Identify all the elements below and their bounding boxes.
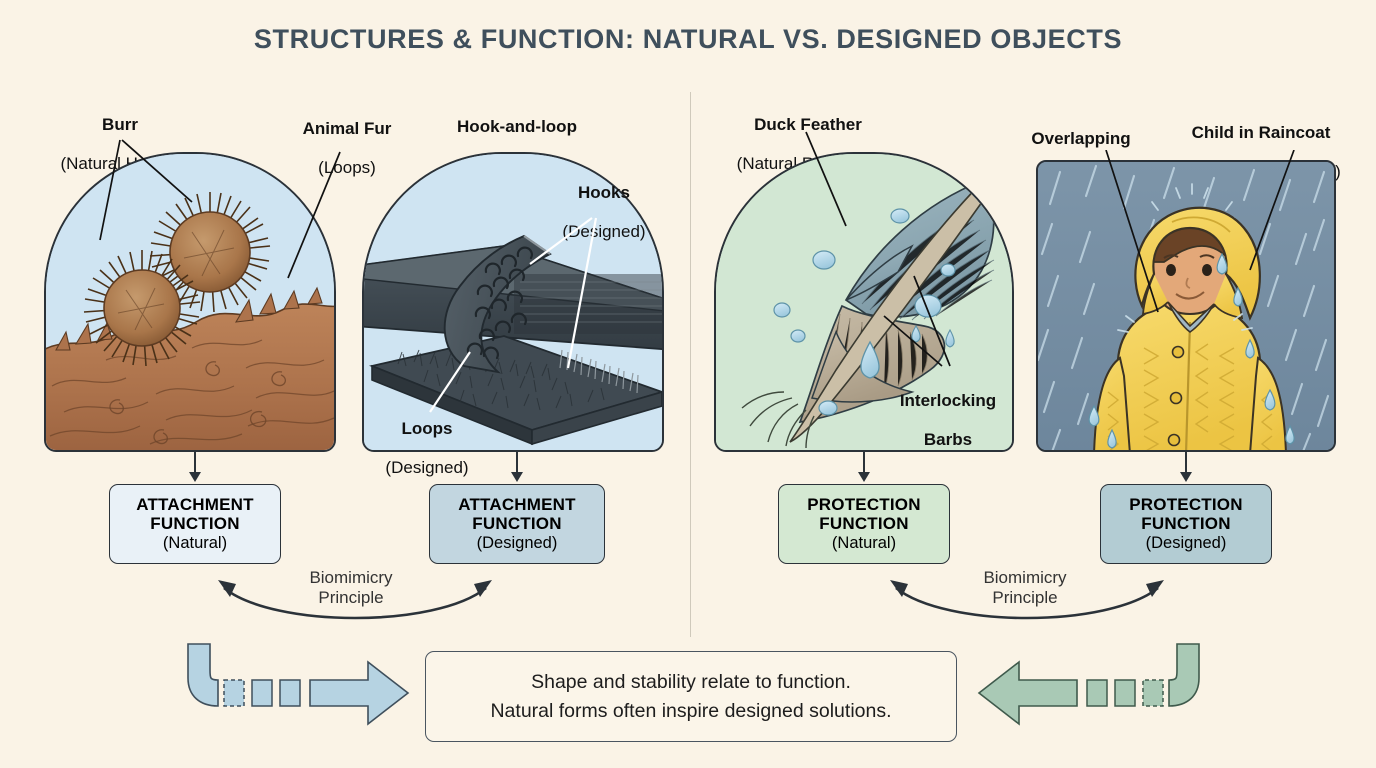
label-interlocking-barbs: Interlocking Barbs: [872, 372, 1024, 469]
section-divider: [690, 92, 691, 637]
function-box-attachment-natural[interactable]: ATTACHMENT FUNCTION (Natural): [109, 484, 281, 564]
arrow-burr-to-function: [180, 452, 210, 484]
flow-arrow-right: [962, 640, 1217, 750]
function-box-attachment-designed[interactable]: ATTACHMENT FUNCTION (Designed): [429, 484, 605, 564]
function-title-line2: FUNCTION: [150, 514, 239, 534]
function-title-line1: ATTACHMENT: [136, 495, 254, 515]
biomimicry-caption-left: Biomimicry Principle: [272, 568, 430, 609]
function-subtitle: (Designed): [1146, 534, 1227, 554]
function-subtitle: (Designed): [477, 534, 558, 554]
function-subtitle: (Natural): [163, 534, 227, 554]
function-title-line1: PROTECTION: [807, 495, 920, 515]
function-title-line1: ATTACHMENT: [458, 495, 576, 515]
arrow-velcro-to-function: [502, 452, 532, 484]
function-title-line2: FUNCTION: [819, 514, 908, 534]
arrow-raincoat-to-function: [1171, 452, 1201, 484]
illustration-child-raincoat: [1036, 160, 1336, 452]
illustration-burr-fur: [44, 152, 336, 452]
function-box-protection-natural[interactable]: PROTECTION FUNCTION (Natural): [778, 484, 950, 564]
summary-line-2: Natural forms often inspire designed sol…: [490, 697, 891, 725]
label-loops-designed: Loops (Designed): [372, 400, 482, 497]
summary-line-1: Shape and stability relate to function.: [531, 668, 851, 696]
label-hooks-designed: Hooks (Designed): [548, 164, 660, 261]
page-title: STRUCTURES & FUNCTION: NATURAL VS. DESIG…: [0, 24, 1376, 55]
label-animal-fur: Animal Fur (Loops): [272, 100, 422, 197]
biomimicry-caption-right: Biomimicry Principle: [946, 568, 1104, 609]
function-title-line2: FUNCTION: [1141, 514, 1230, 534]
function-subtitle: (Natural): [832, 534, 896, 554]
diagram-canvas: STRUCTURES & FUNCTION: NATURAL VS. DESIG…: [0, 0, 1376, 768]
summary-box: Shape and stability relate to function. …: [425, 651, 957, 742]
function-title-line1: PROTECTION: [1129, 495, 1242, 515]
function-box-protection-designed[interactable]: PROTECTION FUNCTION (Designed): [1100, 484, 1272, 564]
function-title-line2: FUNCTION: [472, 514, 561, 534]
flow-arrow-left: [170, 640, 425, 750]
